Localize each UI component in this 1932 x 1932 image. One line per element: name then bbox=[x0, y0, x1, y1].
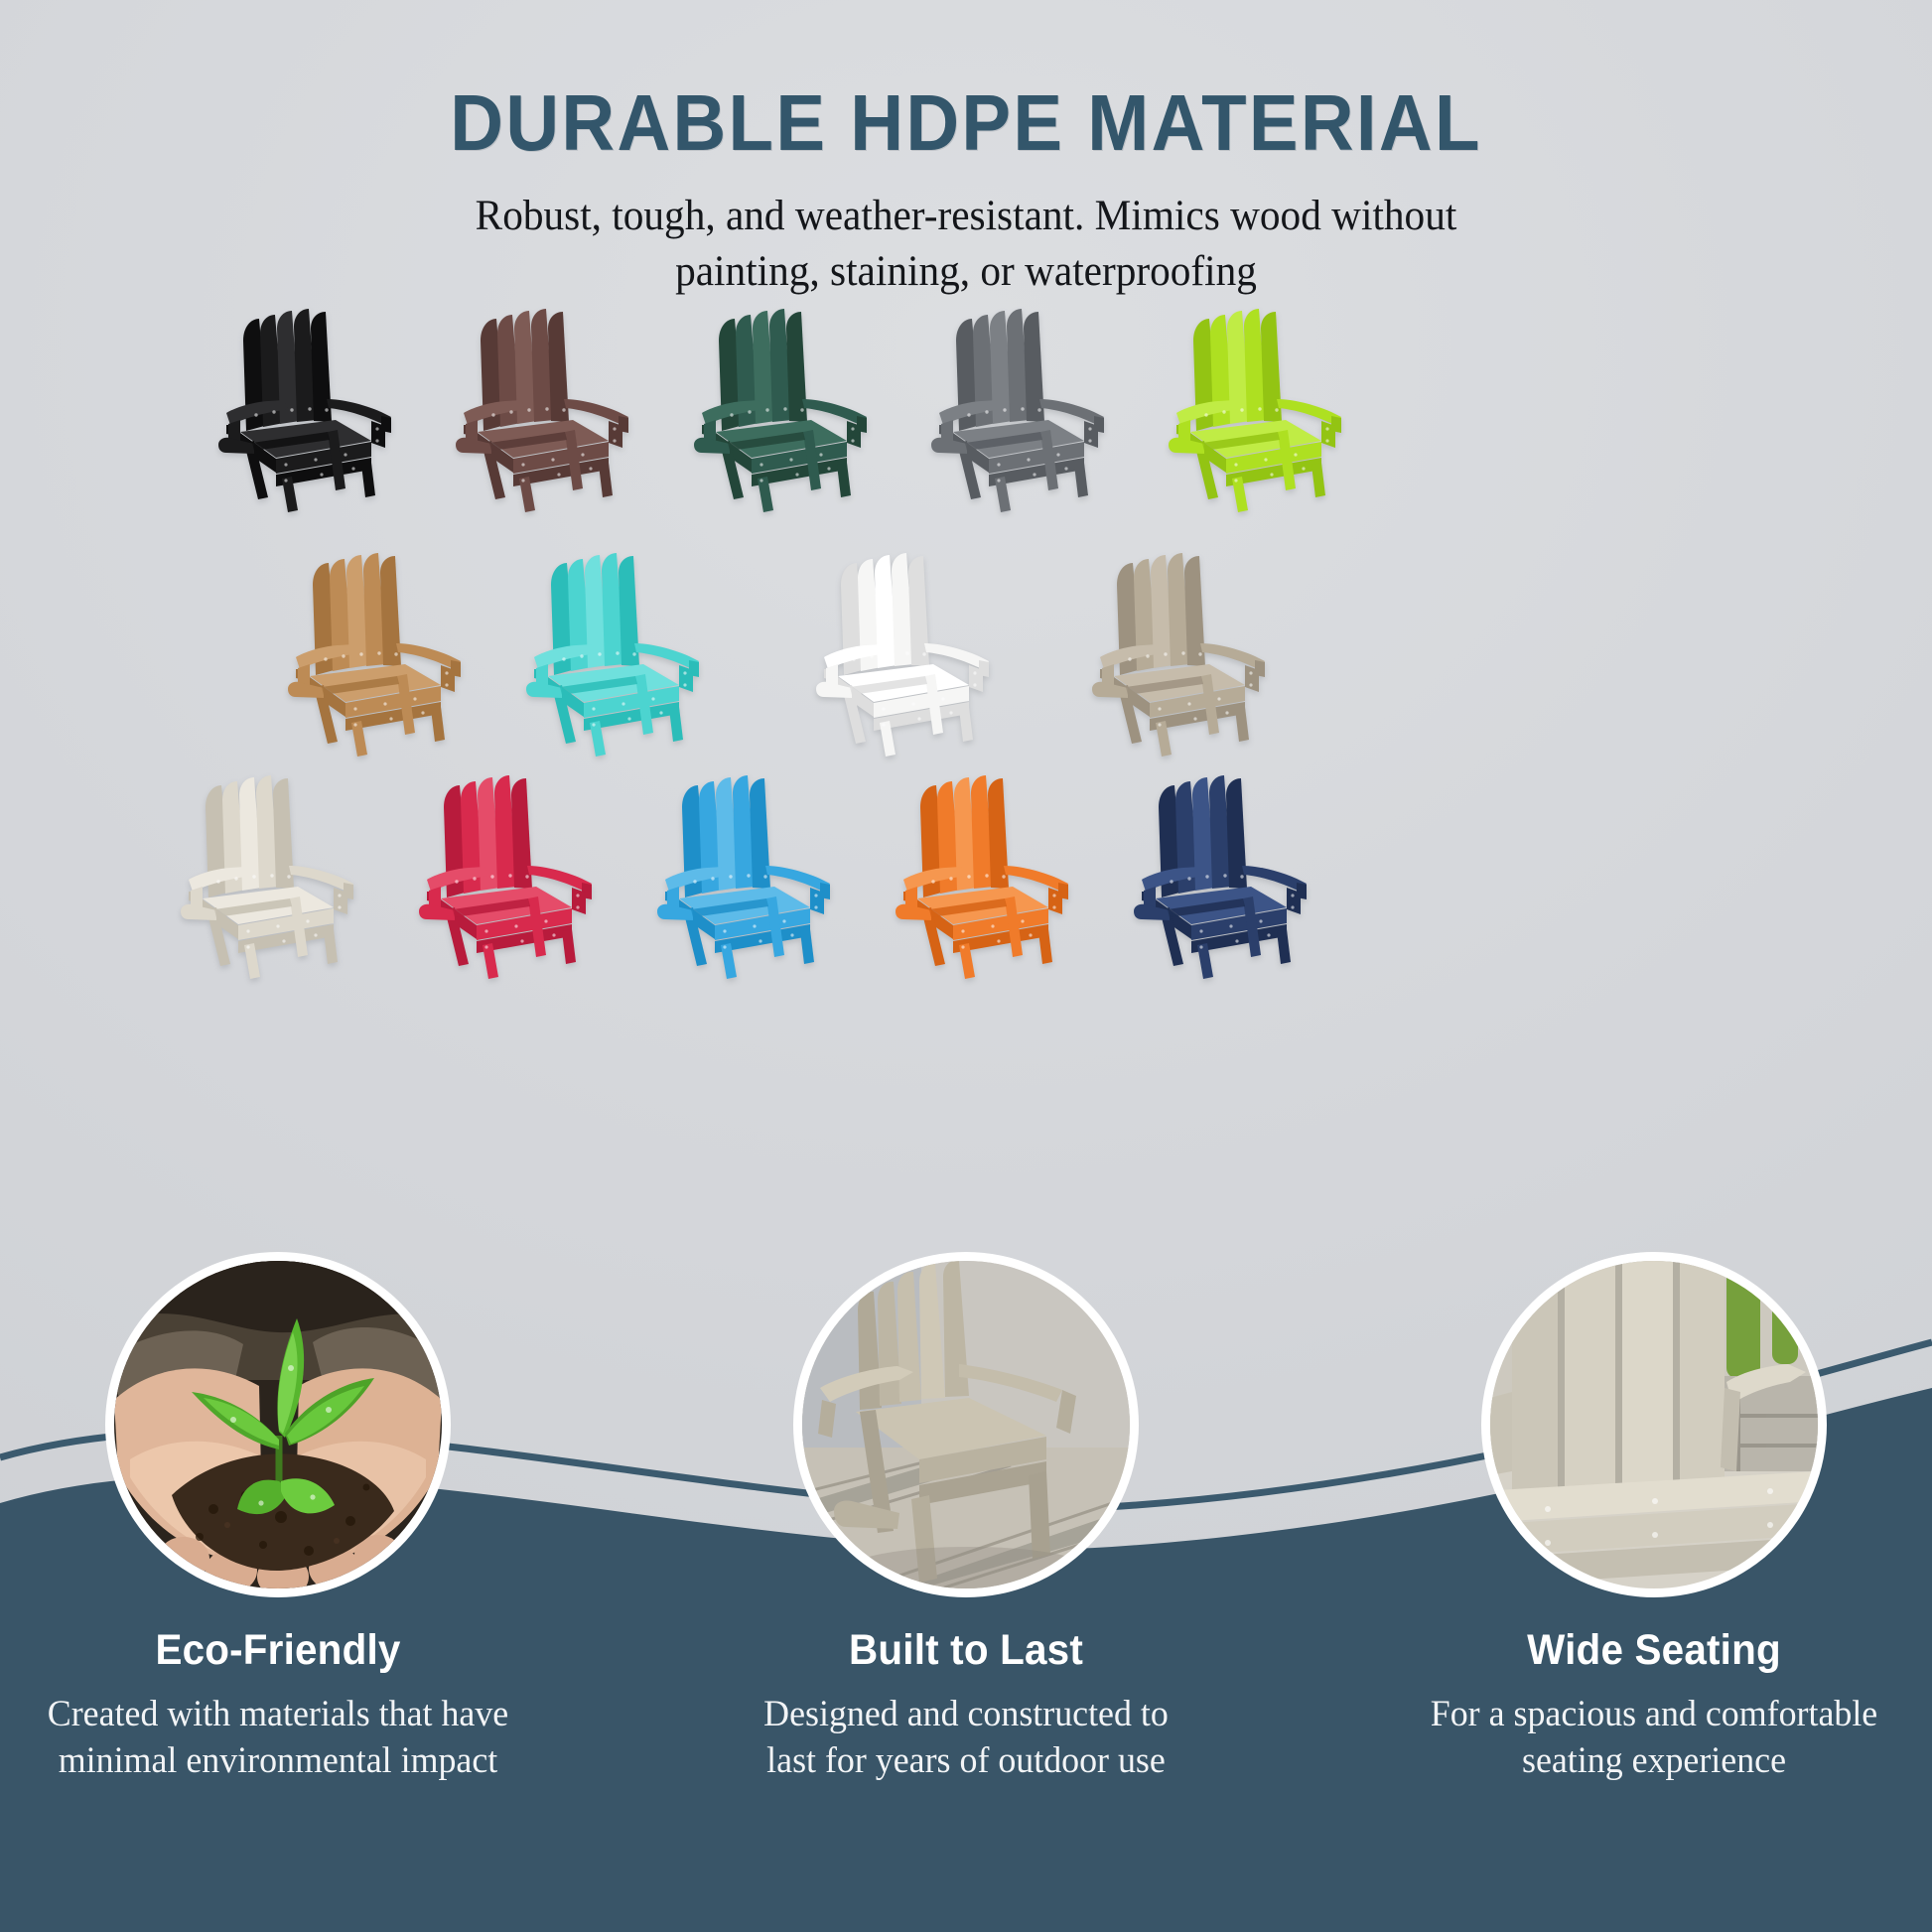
chair-illustration-gray bbox=[909, 294, 1148, 524]
feature-title-built-to-last: Built to Last bbox=[705, 1626, 1227, 1675]
chair-swatch-lime-green[interactable] bbox=[1147, 294, 1385, 524]
header-block: DURABLE HDPE MATERIAL Robust, tough, and… bbox=[0, 83, 1932, 300]
chair-swatch-orange[interactable] bbox=[874, 760, 1112, 991]
subtitle-line-1: Robust, tough, and weather-resistant. Mi… bbox=[39, 189, 1893, 244]
chair-swatch-dark-green[interactable] bbox=[672, 294, 910, 524]
feature-image-built-to-last bbox=[802, 1261, 1130, 1588]
chair-illustration-turquoise bbox=[504, 538, 743, 768]
chair-illustration-black bbox=[197, 294, 435, 524]
feature-body-wide-seating: For a spacious and comfortableseating ex… bbox=[1384, 1691, 1923, 1785]
chair-swatch-turquoise[interactable] bbox=[504, 538, 743, 768]
chair-swatch-blue[interactable] bbox=[635, 760, 874, 991]
feature-built-to-last: Built to LastDesigned and constructed to… bbox=[688, 1261, 1244, 1785]
feature-body-eco-friendly: Created with materials that haveminimal … bbox=[8, 1691, 547, 1785]
hands-holding-seedling-in-soil bbox=[114, 1261, 442, 1588]
chair-illustration-navy bbox=[1112, 760, 1350, 991]
chair-color-grid bbox=[0, 294, 1932, 1019]
closeup-wide-chair-seat-and-back bbox=[1490, 1261, 1818, 1588]
chair-illustration-dark-green bbox=[672, 294, 910, 524]
feature-body-line-1: Designed and constructed to bbox=[696, 1691, 1235, 1737]
feature-body-line-2: last for years of outdoor use bbox=[696, 1737, 1235, 1784]
feature-title-eco-friendly: Eco-Friendly bbox=[17, 1626, 539, 1675]
feature-image-eco-friendly bbox=[114, 1261, 442, 1588]
chair-swatch-khaki[interactable] bbox=[1070, 538, 1309, 768]
subtitle-line-2: painting, staining, or waterproofing bbox=[39, 244, 1893, 300]
feature-body-line-1: For a spacious and comfortable bbox=[1384, 1691, 1923, 1737]
feature-eco-friendly: Eco-FriendlyCreated with materials that … bbox=[0, 1261, 556, 1785]
chair-swatch-brown[interactable] bbox=[434, 294, 672, 524]
chair-illustration-white bbox=[794, 538, 1033, 768]
chair-swatch-gray[interactable] bbox=[909, 294, 1148, 524]
chair-swatch-red[interactable] bbox=[397, 760, 635, 991]
feature-title-wide-seating: Wide Seating bbox=[1393, 1626, 1915, 1675]
chair-illustration-blue bbox=[635, 760, 874, 991]
page-subtitle: Robust, tough, and weather-resistant. Mi… bbox=[39, 189, 1893, 300]
feature-body-built-to-last: Designed and constructed tolast for year… bbox=[696, 1691, 1235, 1785]
feature-wide-seating: Wide SeatingFor a spacious and comfortab… bbox=[1376, 1261, 1932, 1785]
feature-body-line-2: minimal environmental impact bbox=[8, 1737, 547, 1784]
feature-image-wide-seating bbox=[1490, 1261, 1818, 1588]
chair-illustration-brown bbox=[434, 294, 672, 524]
chair-illustration-teak bbox=[266, 538, 504, 768]
chair-swatch-teak[interactable] bbox=[266, 538, 504, 768]
beige-adirondack-chair-on-patio bbox=[802, 1261, 1130, 1588]
chair-illustration-khaki bbox=[1070, 538, 1309, 768]
chair-swatch-ivory[interactable] bbox=[159, 760, 397, 991]
feature-body-line-1: Created with materials that have bbox=[8, 1691, 547, 1737]
chair-illustration-lime-green bbox=[1147, 294, 1385, 524]
feature-body-line-2: seating experience bbox=[1384, 1737, 1923, 1784]
chair-swatch-white[interactable] bbox=[794, 538, 1033, 768]
chair-illustration-orange bbox=[874, 760, 1112, 991]
chair-swatch-black[interactable] bbox=[197, 294, 435, 524]
chair-illustration-red bbox=[397, 760, 635, 991]
infographic-canvas: DURABLE HDPE MATERIAL Robust, tough, and… bbox=[0, 0, 1932, 1932]
chair-swatch-navy[interactable] bbox=[1112, 760, 1350, 991]
page-title: DURABLE HDPE MATERIAL bbox=[68, 83, 1864, 163]
chair-illustration-ivory bbox=[159, 760, 397, 991]
